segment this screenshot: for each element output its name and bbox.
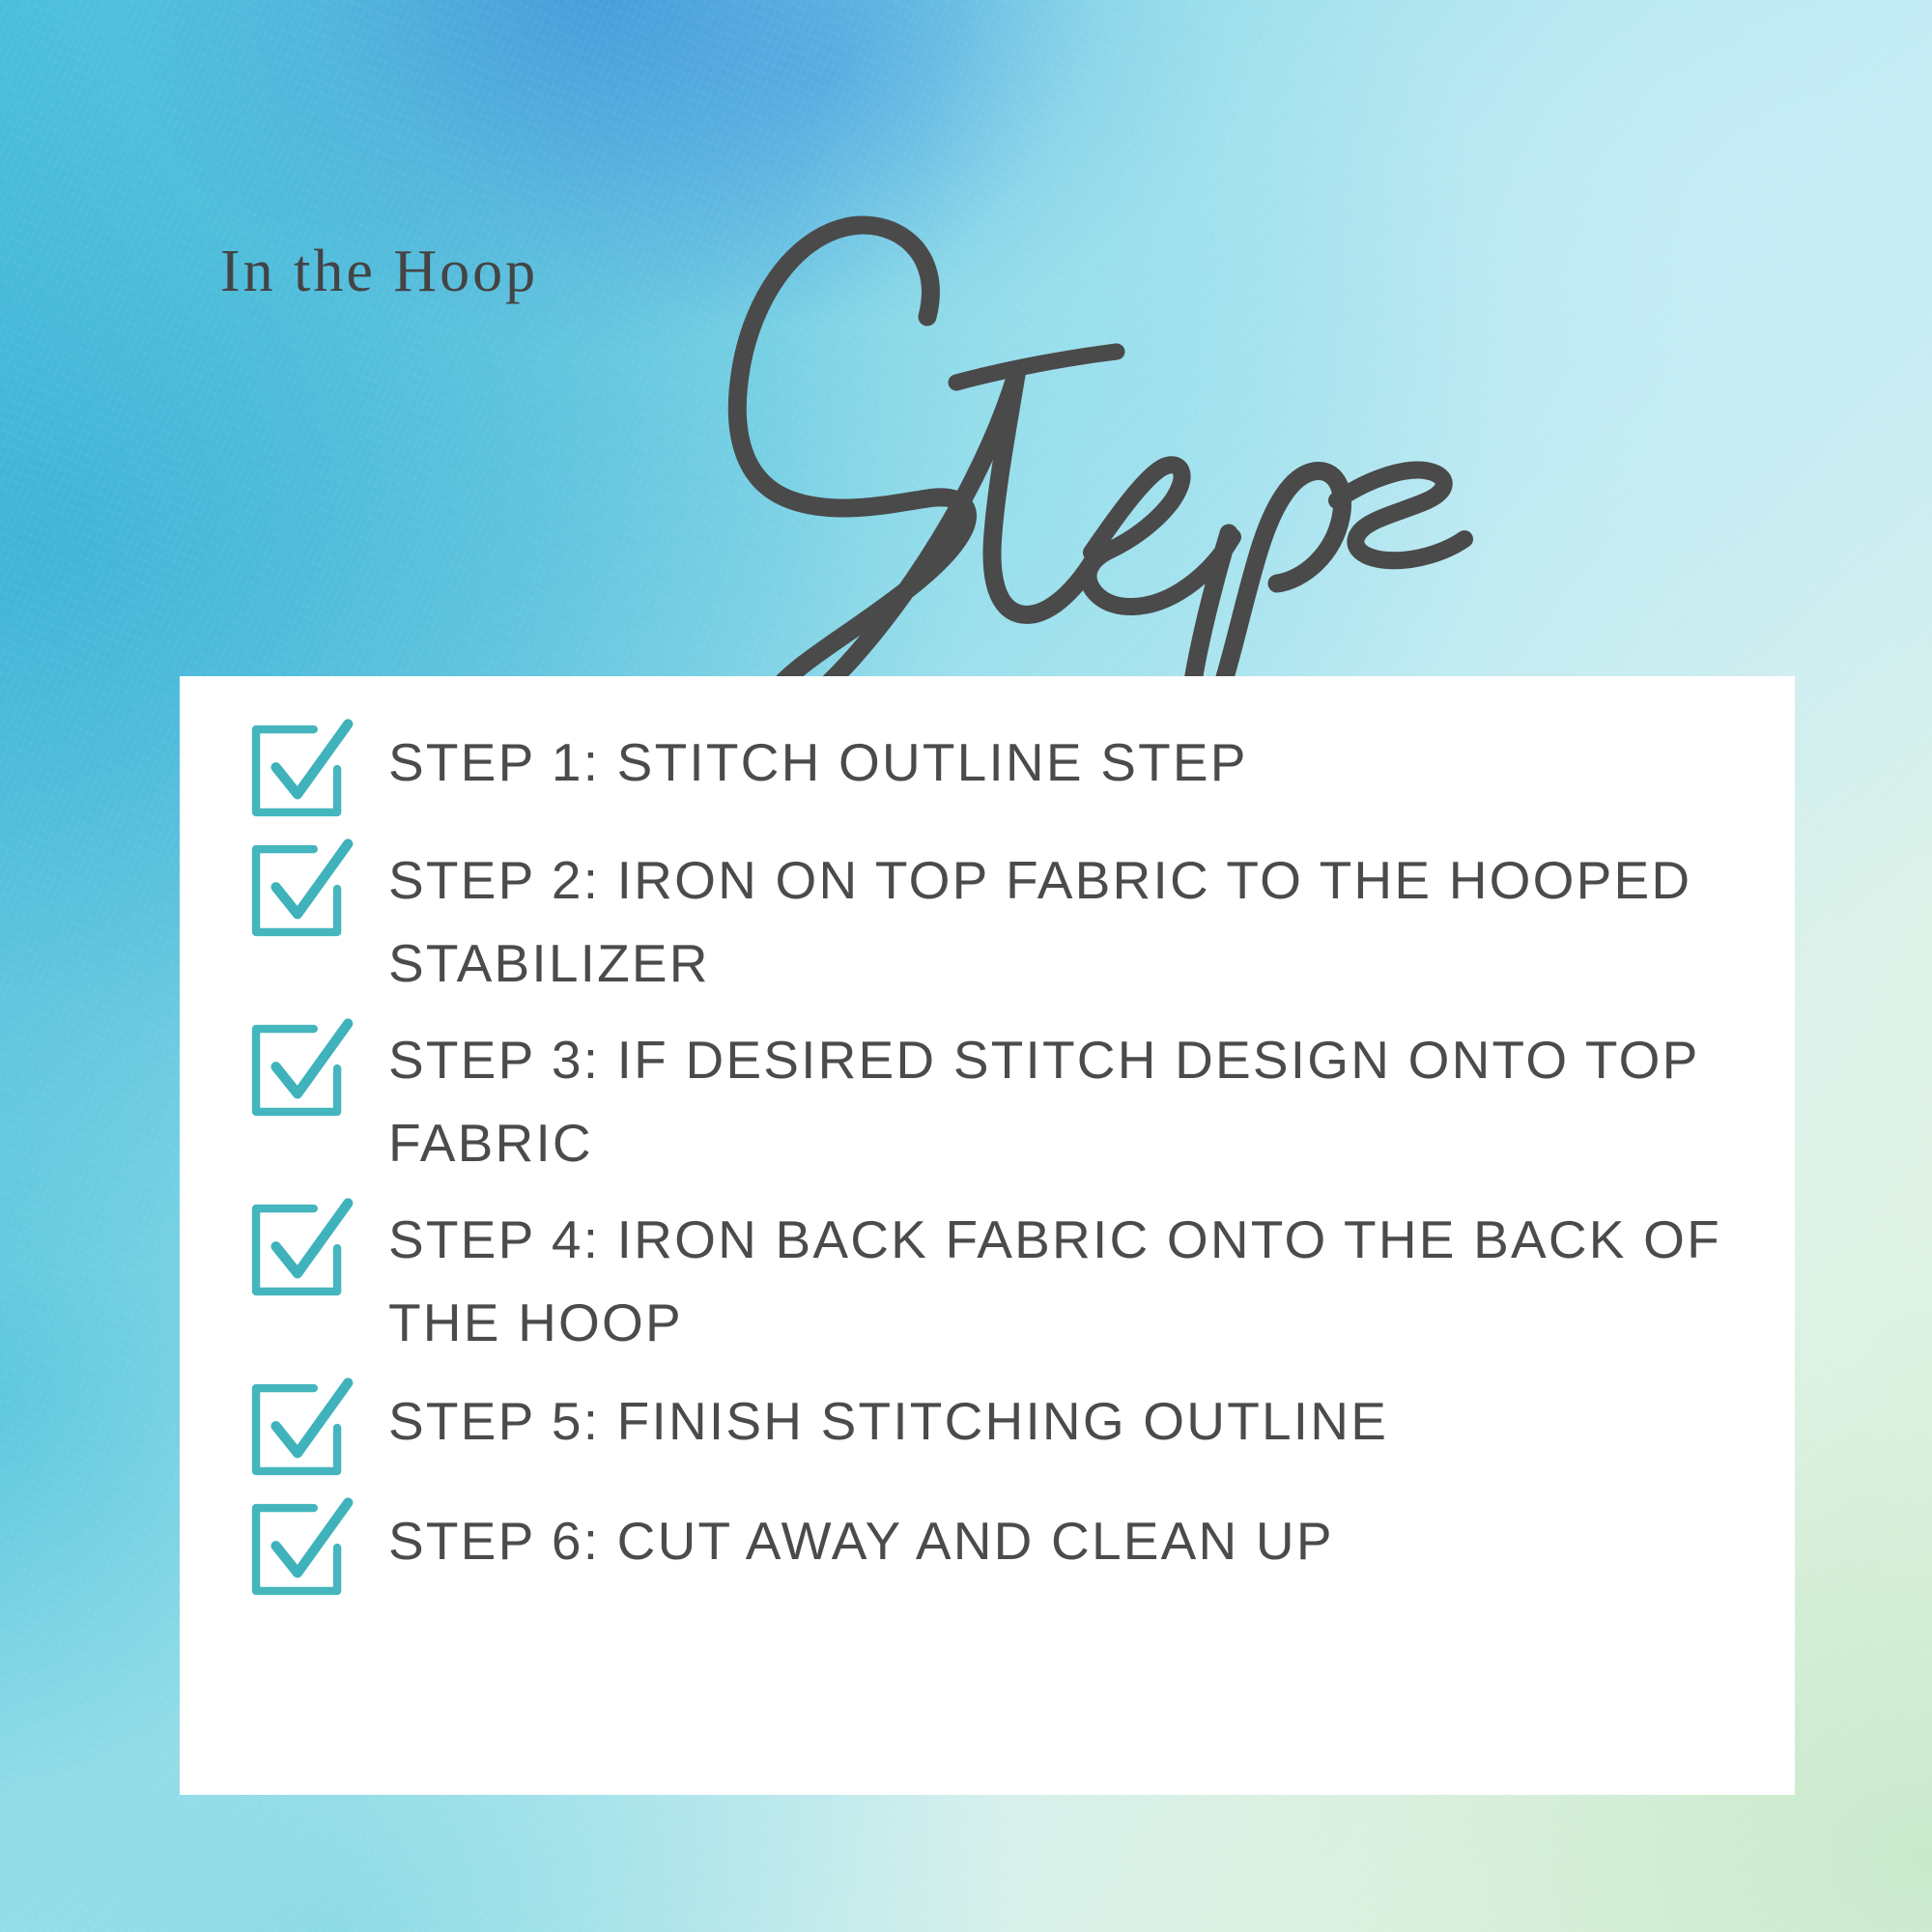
list-item-label: STEP 6: CUT AWAY AND CLEAN UP <box>388 1490 1750 1582</box>
steps-list: STEP 1: STITCH OUTLINE STEP STEP 2: IRON… <box>180 676 1795 1795</box>
script-title-steps: Steps <box>638 193 1546 715</box>
list-item[interactable]: STEP 3: IF DESIRED STITCH DESIGN ONTO TO… <box>243 1010 1750 1184</box>
list-item[interactable]: STEP 2: IRON ON TOP FABRIC TO THE HOOPED… <box>243 831 1750 1005</box>
eyebrow-heading: In the Hoop <box>220 241 538 301</box>
list-item[interactable]: STEP 6: CUT AWAY AND CLEAN UP <box>243 1490 1750 1604</box>
checkbox-checked-icon[interactable] <box>243 1016 352 1124</box>
list-item-label: STEP 5: FINISH STITCHING OUTLINE <box>388 1370 1750 1463</box>
list-item[interactable]: STEP 5: FINISH STITCHING OUTLINE <box>243 1370 1750 1484</box>
list-item-label: STEP 4: IRON BACK FABRIC ONTO THE BACK O… <box>388 1190 1750 1364</box>
list-item-label: STEP 1: STITCH OUTLINE STEP <box>388 711 1750 804</box>
checkbox-checked-icon[interactable] <box>243 1376 352 1484</box>
checkbox-checked-icon[interactable] <box>243 1495 352 1604</box>
list-item-label: STEP 2: IRON ON TOP FABRIC TO THE HOOPED… <box>388 831 1750 1005</box>
list-item[interactable]: STEP 1: STITCH OUTLINE STEP <box>243 711 1750 825</box>
steps-card: STEP 1: STITCH OUTLINE STEP STEP 2: IRON… <box>180 676 1795 1795</box>
checkbox-checked-icon[interactable] <box>243 1196 352 1304</box>
checkbox-checked-icon[interactable] <box>243 717 352 825</box>
list-item-label: STEP 3: IF DESIRED STITCH DESIGN ONTO TO… <box>388 1010 1750 1184</box>
checkbox-checked-icon[interactable] <box>243 837 352 945</box>
list-item[interactable]: STEP 4: IRON BACK FABRIC ONTO THE BACK O… <box>243 1190 1750 1364</box>
poster-canvas: In the Hoop Steps <box>0 0 1932 1932</box>
